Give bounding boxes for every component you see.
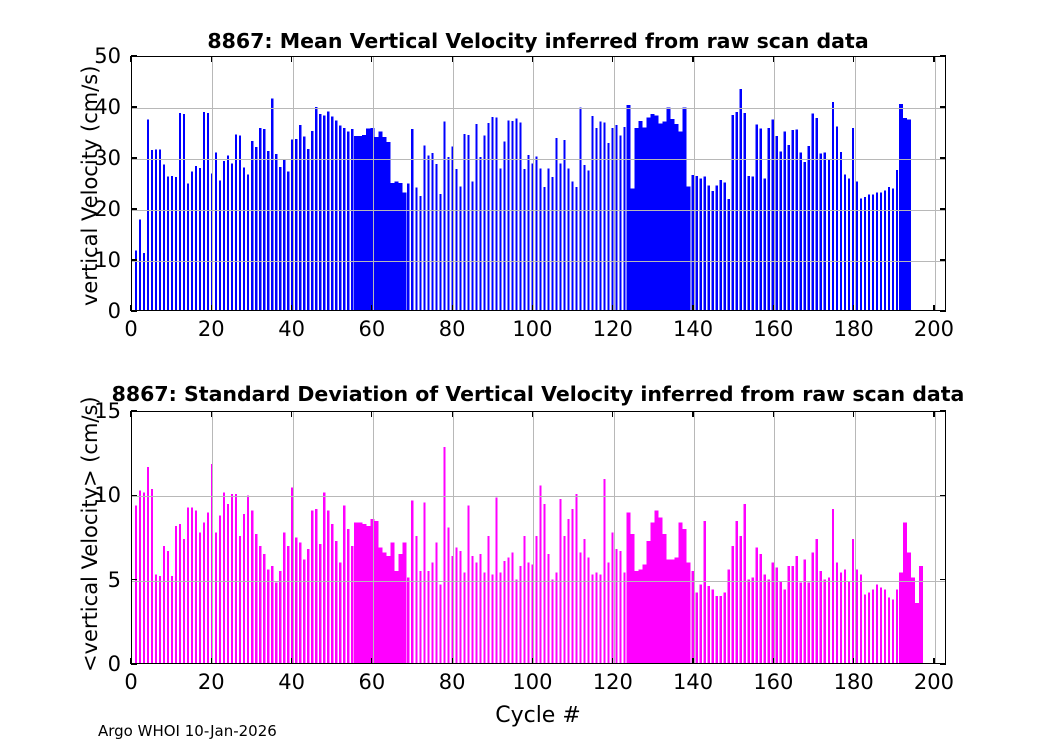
bar xyxy=(712,191,714,310)
chart-title-mean: 8867: Mean Vertical Velocity inferred fr… xyxy=(207,29,868,53)
x-tick-label: 60 xyxy=(359,670,386,694)
bar xyxy=(411,129,413,310)
bar xyxy=(764,574,766,663)
x-tick-label: 160 xyxy=(753,317,793,341)
bar xyxy=(455,548,457,663)
x-tick-mark xyxy=(692,305,693,311)
bar xyxy=(299,125,301,310)
bar xyxy=(431,563,433,663)
bar xyxy=(327,511,329,663)
bar xyxy=(251,511,253,663)
y-tick-mark xyxy=(131,410,137,411)
bar xyxy=(215,532,217,663)
y-tick-mark xyxy=(131,310,137,311)
bar xyxy=(575,187,577,310)
bar xyxy=(599,574,601,663)
gridline-vertical xyxy=(453,412,454,663)
y-tick-mark xyxy=(131,579,137,580)
bar xyxy=(808,146,810,310)
bar xyxy=(378,548,382,663)
bar xyxy=(563,140,565,310)
x-tick-label: 180 xyxy=(834,317,874,341)
bar xyxy=(247,174,249,310)
bar xyxy=(243,167,245,310)
bar xyxy=(271,98,273,310)
x-tick-mark xyxy=(933,56,934,62)
bar xyxy=(607,563,609,663)
gridline-horizontal xyxy=(132,108,945,109)
y-tick-label: 0 xyxy=(71,299,121,323)
bar xyxy=(687,563,691,663)
bar xyxy=(143,492,145,663)
bar xyxy=(868,195,870,310)
gridline-vertical xyxy=(293,57,294,310)
bar xyxy=(235,494,237,663)
bar xyxy=(243,514,245,663)
bar xyxy=(511,121,513,310)
bar xyxy=(852,539,854,663)
bar xyxy=(744,113,746,310)
bar xyxy=(303,559,305,663)
bar xyxy=(812,553,814,663)
x-tick-mark xyxy=(853,56,854,62)
gridline-vertical xyxy=(694,57,695,310)
bar xyxy=(343,506,345,663)
bar xyxy=(219,180,221,310)
bar xyxy=(507,120,509,310)
bar xyxy=(259,546,261,663)
y-tick-mark xyxy=(940,208,946,209)
bar xyxy=(439,584,441,663)
bar xyxy=(907,553,911,663)
bar xyxy=(583,165,585,310)
gridline-vertical xyxy=(774,412,775,663)
bar xyxy=(279,167,281,310)
gridline-vertical xyxy=(373,57,374,310)
bar xyxy=(311,511,313,663)
bar xyxy=(491,117,493,310)
bar xyxy=(864,197,866,310)
bar xyxy=(335,541,337,663)
gridline-horizontal xyxy=(132,261,945,262)
bar xyxy=(295,538,297,664)
bar xyxy=(163,164,165,310)
bar xyxy=(712,589,714,663)
bar xyxy=(303,136,305,310)
bar xyxy=(407,184,409,311)
bar xyxy=(471,556,473,663)
bar xyxy=(728,199,730,310)
x-tick-mark xyxy=(612,658,613,664)
bar xyxy=(828,578,830,663)
bar xyxy=(339,125,341,310)
bar xyxy=(832,509,834,663)
x-tick-mark xyxy=(211,411,212,417)
bar xyxy=(479,554,481,663)
bar xyxy=(591,574,593,663)
bar xyxy=(844,174,846,310)
bar xyxy=(607,143,609,310)
x-tick-mark xyxy=(371,411,372,417)
bar xyxy=(679,522,683,663)
bar xyxy=(756,548,758,663)
x-tick-mark xyxy=(371,658,372,664)
bar xyxy=(659,517,663,663)
bar xyxy=(716,186,718,310)
bar xyxy=(671,559,675,663)
bar xyxy=(780,581,782,663)
bar xyxy=(523,536,525,663)
x-tick-label: 180 xyxy=(834,670,874,694)
x-tick-label: 20 xyxy=(198,670,225,694)
bar xyxy=(515,119,517,310)
bar xyxy=(720,180,722,310)
bar xyxy=(800,583,802,663)
bar xyxy=(559,163,561,310)
bar xyxy=(231,163,233,310)
bar xyxy=(899,104,903,310)
bar xyxy=(740,89,742,310)
bar xyxy=(163,546,165,663)
gridline-horizontal xyxy=(132,581,945,582)
bar xyxy=(720,596,722,663)
bar xyxy=(231,494,233,663)
y-tick-label: 15 xyxy=(71,399,121,423)
bar xyxy=(362,524,366,663)
bar xyxy=(299,543,301,663)
bar xyxy=(615,125,617,310)
bar xyxy=(635,128,639,310)
bar xyxy=(844,569,846,663)
bar xyxy=(579,553,581,663)
x-tick-mark xyxy=(130,56,131,62)
gridline-vertical xyxy=(855,57,856,310)
gridline-vertical xyxy=(614,412,615,663)
x-tick-mark xyxy=(933,658,934,664)
bar xyxy=(439,194,441,310)
bar xyxy=(471,181,473,310)
bar xyxy=(331,117,333,310)
y-tick-mark xyxy=(940,663,946,664)
y-tick-mark xyxy=(131,663,137,664)
gridline-vertical xyxy=(453,57,454,310)
y-tick-mark xyxy=(940,495,946,496)
bar xyxy=(716,596,718,663)
bar xyxy=(487,123,489,310)
bar xyxy=(587,558,589,663)
bar xyxy=(804,162,806,310)
bar xyxy=(443,121,445,310)
bar xyxy=(615,549,617,663)
x-tick-label: 120 xyxy=(593,317,633,341)
bar xyxy=(884,191,886,310)
bar xyxy=(147,120,149,310)
bar xyxy=(651,522,655,663)
gridline-horizontal xyxy=(132,159,945,160)
bar xyxy=(575,494,577,663)
bar xyxy=(339,563,341,663)
plot-panel-stddev xyxy=(131,411,946,664)
x-tick-mark xyxy=(130,411,131,417)
bar xyxy=(167,176,169,310)
bar xyxy=(752,578,754,663)
bar xyxy=(744,504,746,663)
bar xyxy=(812,114,814,310)
bar xyxy=(315,509,317,663)
bar xyxy=(896,170,898,310)
bar xyxy=(840,573,842,663)
x-tick-mark xyxy=(773,56,774,62)
bar xyxy=(864,594,866,663)
bar xyxy=(511,553,513,663)
bar xyxy=(627,105,631,310)
gridline-horizontal xyxy=(132,496,945,497)
x-tick-mark xyxy=(532,658,533,664)
bar xyxy=(351,546,353,663)
bar xyxy=(203,112,205,310)
bar xyxy=(768,128,770,310)
x-tick-label: 0 xyxy=(124,670,137,694)
bar xyxy=(708,586,710,663)
bar xyxy=(796,129,798,310)
bar xyxy=(748,579,750,663)
bar xyxy=(907,120,911,310)
bar xyxy=(659,123,663,310)
bar xyxy=(415,188,417,310)
bar xyxy=(239,135,241,310)
bar xyxy=(411,501,413,663)
bar xyxy=(856,181,858,310)
y-axis-label-stddev: <vertical Velocity> (cm/s) xyxy=(78,396,102,672)
bar xyxy=(195,166,197,310)
bar xyxy=(892,599,894,663)
bar xyxy=(527,155,529,310)
bar xyxy=(824,579,826,663)
bar xyxy=(323,492,325,663)
bar xyxy=(447,157,449,310)
bar xyxy=(483,573,485,663)
bar xyxy=(151,489,153,663)
bar xyxy=(175,177,177,310)
bar xyxy=(724,593,726,663)
x-tick-mark xyxy=(773,411,774,417)
bar xyxy=(651,114,655,310)
x-tick-mark xyxy=(211,56,212,62)
bar xyxy=(776,568,778,663)
gridline-vertical xyxy=(614,57,615,310)
bar xyxy=(860,574,862,663)
bar xyxy=(792,130,794,310)
bar xyxy=(307,549,309,663)
gridline-vertical xyxy=(533,57,534,310)
bar xyxy=(832,102,834,310)
bar xyxy=(207,113,209,310)
y-tick-label: 10 xyxy=(71,483,121,507)
x-tick-label: 160 xyxy=(753,670,793,694)
bar xyxy=(491,574,493,663)
plot-area-stddev xyxy=(131,411,946,664)
bar xyxy=(848,178,850,310)
bar xyxy=(390,543,394,663)
bar xyxy=(351,129,353,310)
bar xyxy=(868,593,870,663)
bar xyxy=(620,135,622,310)
bar xyxy=(539,486,541,663)
bar xyxy=(191,171,193,310)
bar xyxy=(535,536,537,663)
bar xyxy=(704,521,706,663)
x-tick-mark xyxy=(853,305,854,311)
bar xyxy=(499,573,501,663)
bar xyxy=(903,522,907,663)
y-tick-label: 20 xyxy=(71,197,121,221)
bar xyxy=(259,128,261,310)
bar xyxy=(888,598,890,663)
bar xyxy=(675,558,679,663)
gridline-vertical xyxy=(694,412,695,663)
bar xyxy=(704,176,706,310)
bar xyxy=(263,129,265,310)
bar xyxy=(732,115,734,310)
bar xyxy=(247,496,249,663)
bar xyxy=(675,124,679,310)
bar xyxy=(595,573,597,663)
bar xyxy=(892,189,894,310)
bar xyxy=(840,152,842,310)
bar xyxy=(487,536,489,663)
bar xyxy=(323,116,325,310)
bar xyxy=(911,578,915,663)
bar xyxy=(643,127,647,310)
bar xyxy=(319,544,321,663)
bar xyxy=(631,189,635,310)
bar xyxy=(603,122,605,310)
bar xyxy=(459,187,461,310)
y-tick-mark xyxy=(131,157,137,158)
y-tick-mark xyxy=(940,310,946,311)
x-tick-mark xyxy=(452,56,453,62)
figure-canvas: 8867: Mean Vertical Velocity inferred fr… xyxy=(0,0,1050,750)
bar xyxy=(275,154,277,310)
x-tick-mark xyxy=(933,305,934,311)
bar xyxy=(402,543,406,663)
y-tick-mark xyxy=(940,55,946,56)
bar xyxy=(836,563,838,663)
bar xyxy=(358,522,362,663)
bar xyxy=(736,521,738,663)
x-tick-mark xyxy=(452,658,453,664)
bar xyxy=(239,536,241,663)
bar xyxy=(820,571,822,663)
bar xyxy=(915,603,919,663)
bar xyxy=(255,147,257,310)
x-tick-label: 40 xyxy=(278,670,305,694)
bar xyxy=(884,589,886,663)
bar xyxy=(627,512,631,663)
bar xyxy=(183,114,185,310)
gridline-vertical xyxy=(533,412,534,663)
bar xyxy=(503,561,505,663)
x-tick-mark xyxy=(853,658,854,664)
bar xyxy=(155,150,157,310)
bar xyxy=(567,519,569,663)
bar xyxy=(366,526,370,663)
bar xyxy=(551,177,553,310)
bar xyxy=(599,121,601,310)
bar xyxy=(455,169,457,310)
bar xyxy=(467,135,469,310)
y-tick-mark xyxy=(131,259,137,260)
bar xyxy=(828,159,830,310)
bar xyxy=(647,118,651,310)
bar xyxy=(223,492,225,663)
bar xyxy=(687,187,691,310)
gridline-vertical xyxy=(373,412,374,663)
bar xyxy=(888,187,890,310)
bar xyxy=(547,554,549,663)
bar xyxy=(732,546,734,663)
x-tick-label: 60 xyxy=(359,317,386,341)
bar xyxy=(667,108,671,310)
bar xyxy=(499,168,501,310)
bar xyxy=(507,558,509,663)
bar xyxy=(880,588,882,663)
bar xyxy=(800,153,802,310)
x-tick-label: 0 xyxy=(124,317,137,341)
bar xyxy=(366,128,370,310)
y-tick-label: 0 xyxy=(71,652,121,676)
bar xyxy=(155,574,157,663)
gridline-horizontal xyxy=(132,210,945,211)
bar xyxy=(475,563,477,663)
bar xyxy=(267,569,269,663)
bar xyxy=(820,154,822,310)
gridline-vertical xyxy=(935,412,936,663)
y-tick-mark xyxy=(940,410,946,411)
bar xyxy=(776,136,778,310)
bar xyxy=(151,150,153,310)
bar xyxy=(407,578,409,663)
bar xyxy=(287,546,289,663)
bar xyxy=(848,581,850,663)
bar xyxy=(435,543,437,663)
y-tick-mark xyxy=(940,259,946,260)
bar xyxy=(419,571,421,663)
bar xyxy=(223,161,225,310)
plot-area-mean xyxy=(131,56,946,311)
bar xyxy=(663,121,667,310)
bar xyxy=(199,168,201,310)
bar xyxy=(386,556,390,663)
bar xyxy=(307,149,309,310)
bar xyxy=(595,128,597,310)
x-tick-mark xyxy=(612,305,613,311)
bar xyxy=(195,511,197,663)
bar xyxy=(899,573,903,663)
bar xyxy=(419,196,421,310)
bar xyxy=(543,504,545,663)
x-tick-mark xyxy=(291,56,292,62)
footer-attribution: Argo WHOI 10-Jan-2026 xyxy=(98,722,277,740)
bar xyxy=(227,156,229,310)
x-tick-label: 40 xyxy=(278,317,305,341)
bar xyxy=(768,579,770,663)
bar xyxy=(354,136,358,310)
bar xyxy=(191,507,193,663)
bar xyxy=(382,137,386,310)
bar xyxy=(287,171,289,310)
y-tick-label: 5 xyxy=(71,568,121,592)
